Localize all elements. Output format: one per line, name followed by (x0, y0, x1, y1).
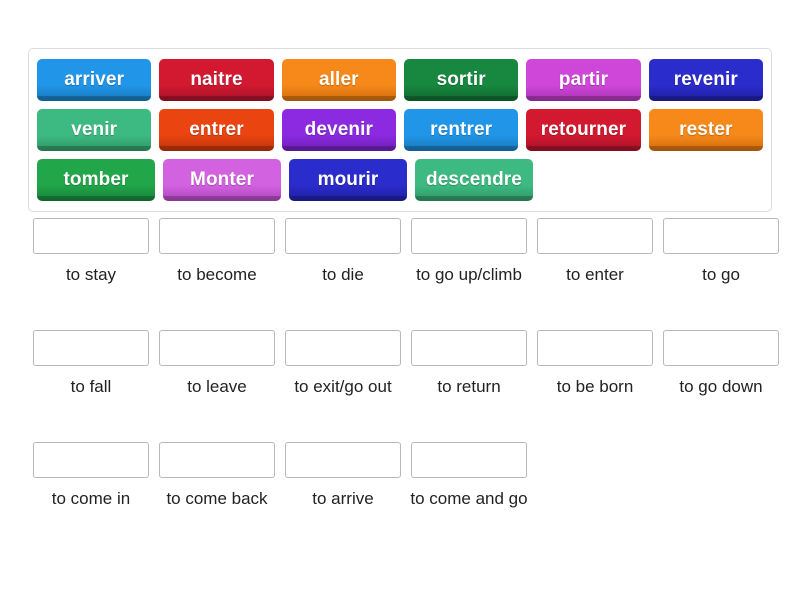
answer-cell: to be born (537, 330, 653, 400)
answer-cell: to stay (33, 218, 149, 288)
answer-cell: to return (411, 330, 527, 400)
answer-dropzone[interactable] (411, 442, 527, 478)
word-tile[interactable]: sortir (404, 59, 518, 101)
answer-dropzone[interactable] (285, 218, 401, 254)
answer-cell: to enter (537, 218, 653, 288)
answer-cell: to come and go (411, 442, 527, 512)
word-tile-label: partir (555, 69, 612, 91)
answer-grid: to stayto becometo dieto go up/climbto e… (28, 218, 772, 554)
answer-label: to go (659, 263, 783, 288)
word-tile[interactable]: arriver (37, 59, 151, 101)
word-bank-panel: arrivernaitreallersortirpartirrevenirven… (28, 48, 772, 212)
word-tile[interactable]: Monter (163, 159, 281, 201)
answer-label: to come back (155, 487, 279, 512)
word-tile-label: rentrer (426, 119, 496, 141)
answer-label: to exit/go out (281, 375, 405, 400)
answer-dropzone[interactable] (411, 218, 527, 254)
answer-dropzone[interactable] (33, 442, 149, 478)
answer-cell: to leave (159, 330, 275, 400)
word-tile[interactable]: naitre (159, 59, 273, 101)
word-tile[interactable]: rentrer (404, 109, 518, 151)
word-bank-row: tomberMontermourirdescendre (33, 155, 767, 205)
answer-dropzone[interactable] (663, 330, 779, 366)
answer-label: to fall (29, 375, 153, 400)
answer-cell: to become (159, 218, 275, 288)
word-tile-label: rester (675, 119, 736, 141)
word-tile-label: tomber (60, 169, 133, 191)
answer-dropzone[interactable] (411, 330, 527, 366)
answer-label: to arrive (281, 487, 405, 512)
answer-cell: to go (663, 218, 779, 288)
word-tile[interactable]: mourir (289, 159, 407, 201)
matching-activity: arrivernaitreallersortirpartirrevenirven… (0, 0, 800, 600)
word-tile-label: devenir (301, 119, 377, 141)
answer-label: to die (281, 263, 405, 288)
answer-cell: to arrive (285, 442, 401, 512)
word-tile-label: arriver (60, 69, 128, 91)
word-tile-label: venir (67, 119, 121, 141)
answer-label: to become (155, 263, 279, 288)
answer-dropzone[interactable] (159, 330, 275, 366)
answer-dropzone[interactable] (33, 330, 149, 366)
answer-row: to come into come backto arriveto come a… (28, 442, 772, 554)
answer-dropzone[interactable] (159, 442, 275, 478)
answer-label: to return (407, 375, 531, 400)
answer-dropzone[interactable] (663, 218, 779, 254)
word-tile[interactable]: rester (649, 109, 763, 151)
word-tile[interactable]: tomber (37, 159, 155, 201)
word-tile[interactable]: revenir (649, 59, 763, 101)
word-tile[interactable]: venir (37, 109, 151, 151)
word-tile[interactable]: partir (526, 59, 640, 101)
word-bank-row: arrivernaitreallersortirpartirrevenir (33, 55, 767, 105)
answer-label: to go up/climb (407, 263, 531, 288)
word-tile-label: mourir (314, 169, 383, 191)
answer-cell: to die (285, 218, 401, 288)
word-tile[interactable]: entrer (159, 109, 273, 151)
word-tile-label: naitre (186, 69, 246, 91)
answer-cell: to go down (663, 330, 779, 400)
word-tile-label: descendre (422, 169, 526, 191)
answer-row: to fallto leaveto exit/go outto returnto… (28, 330, 772, 442)
word-tile-label: revenir (670, 69, 742, 91)
answer-label: to come in (29, 487, 153, 512)
answer-cell: to go up/climb (411, 218, 527, 288)
word-tile-label: sortir (433, 69, 490, 91)
word-tile[interactable]: devenir (282, 109, 396, 151)
answer-cell: to exit/go out (285, 330, 401, 400)
word-tile-label: retourner (537, 119, 630, 141)
answer-dropzone[interactable] (537, 218, 653, 254)
answer-cell: to come in (33, 442, 149, 512)
answer-label: to enter (533, 263, 657, 288)
word-tile-label: entrer (185, 119, 247, 141)
answer-cell: to fall (33, 330, 149, 400)
answer-cell: to come back (159, 442, 275, 512)
answer-label: to go down (659, 375, 783, 400)
answer-label: to be born (533, 375, 657, 400)
word-tile[interactable]: retourner (526, 109, 640, 151)
answer-dropzone[interactable] (537, 330, 653, 366)
word-bank-row: venirentrerdevenirrentrerretournerrester (33, 105, 767, 155)
answer-dropzone[interactable] (285, 330, 401, 366)
answer-dropzone[interactable] (33, 218, 149, 254)
answer-dropzone[interactable] (159, 218, 275, 254)
answer-label: to leave (155, 375, 279, 400)
answer-row: to stayto becometo dieto go up/climbto e… (28, 218, 772, 330)
answer-label: to come and go (407, 487, 531, 512)
word-tile-label: aller (315, 69, 363, 91)
answer-dropzone[interactable] (285, 442, 401, 478)
word-tile[interactable]: descendre (415, 159, 533, 201)
word-tile[interactable]: aller (282, 59, 396, 101)
answer-label: to stay (29, 263, 153, 288)
word-tile-label: Monter (186, 169, 258, 191)
